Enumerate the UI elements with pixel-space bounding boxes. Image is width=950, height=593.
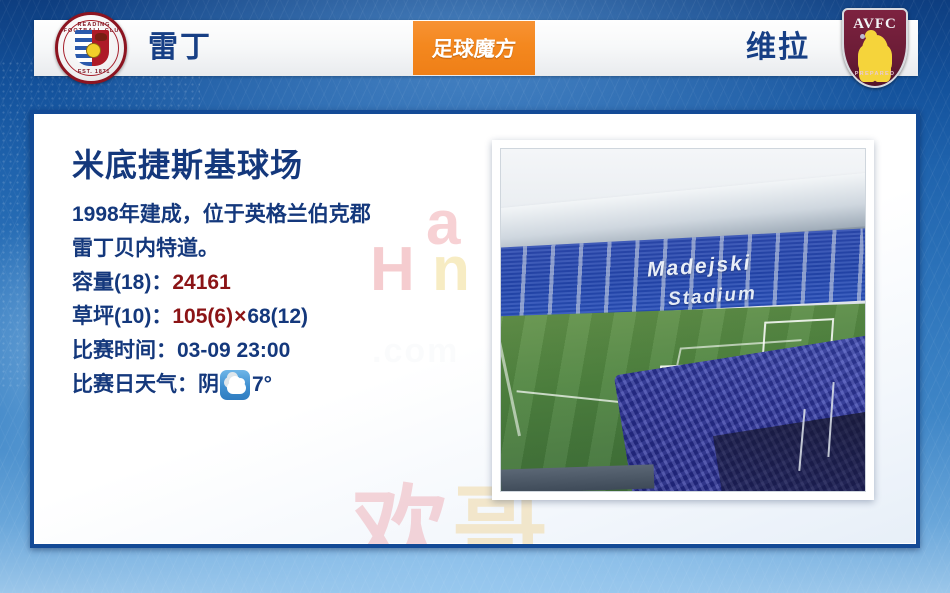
cloudy-icon <box>220 370 250 400</box>
crest-bottom-text: EST. 1871 <box>58 69 127 75</box>
stadium-info-card: READING FOOTBALL CLUB EST. 1871 雷丁 足球魔方 … <box>0 0 950 593</box>
capacity-label: 容量(18)： <box>72 271 172 294</box>
brand-logo[interactable]: 足球魔方 <box>413 21 535 75</box>
stadium-photo: Madejski Stadium <box>500 148 866 492</box>
pitch-label: 草坪(10)： <box>72 305 172 328</box>
pitch-length: 105(6) <box>172 305 233 328</box>
stadium-info-block: 米底捷斯基球场 1998年建成，位于英格兰伯克郡 雷丁贝内特道。 容量(18)：… <box>72 144 492 402</box>
pitch-width: 68(12) <box>247 305 308 328</box>
stadium-title: 米底捷斯基球场 <box>72 144 492 186</box>
brand-logo-label: 足球魔方 <box>431 33 517 63</box>
capacity-value: 24161 <box>172 271 230 294</box>
cloud-front-shape <box>227 382 246 394</box>
match-time-line: 比赛时间：03-09 23:00 <box>72 334 492 368</box>
weather-label: 比赛日天气： <box>72 368 198 402</box>
away-team-name: 维拉 <box>746 28 810 68</box>
weather-condition: 阴 <box>198 368 219 402</box>
stadium-photo-frame: Madejski Stadium <box>492 140 874 500</box>
crest-shield: AVFC PREPARED <box>842 8 908 88</box>
lion-icon <box>862 35 888 69</box>
stadium-description-line-1: 1998年建成，位于英格兰伯克郡 <box>72 198 492 232</box>
crest-motto: PREPARED <box>844 71 906 77</box>
capacity-line: 容量(18)：24161 <box>72 266 492 300</box>
aston-villa-crest-icon: AVFC PREPARED <box>842 8 908 88</box>
match-time-value: 03-09 23:00 <box>177 339 290 362</box>
weather-line: 比赛日天气：阴 7° <box>72 368 492 402</box>
stadium-info-panel: H a n .com 欢哥 米底捷斯基球场 1998年建成，位于英格兰伯克郡 雷… <box>30 110 920 548</box>
photo-foreground-strip <box>501 464 655 492</box>
weather-temperature: 7° <box>252 368 272 402</box>
reading-fc-crest-icon: READING FOOTBALL CLUB EST. 1871 <box>55 12 127 84</box>
crest-hub <box>86 43 101 58</box>
match-header: READING FOOTBALL CLUB EST. 1871 雷丁 足球魔方 … <box>0 0 950 92</box>
home-team-name: 雷丁 <box>148 28 212 68</box>
match-time-label: 比赛时间： <box>72 339 177 362</box>
pitch-separator: × <box>233 305 247 328</box>
stadium-description-line-2: 雷丁贝内特道。 <box>72 232 492 266</box>
watermark-char-1: 欢 <box>352 478 452 548</box>
pitch-size-line: 草坪(10)：105(6)×68(12) <box>72 300 492 334</box>
